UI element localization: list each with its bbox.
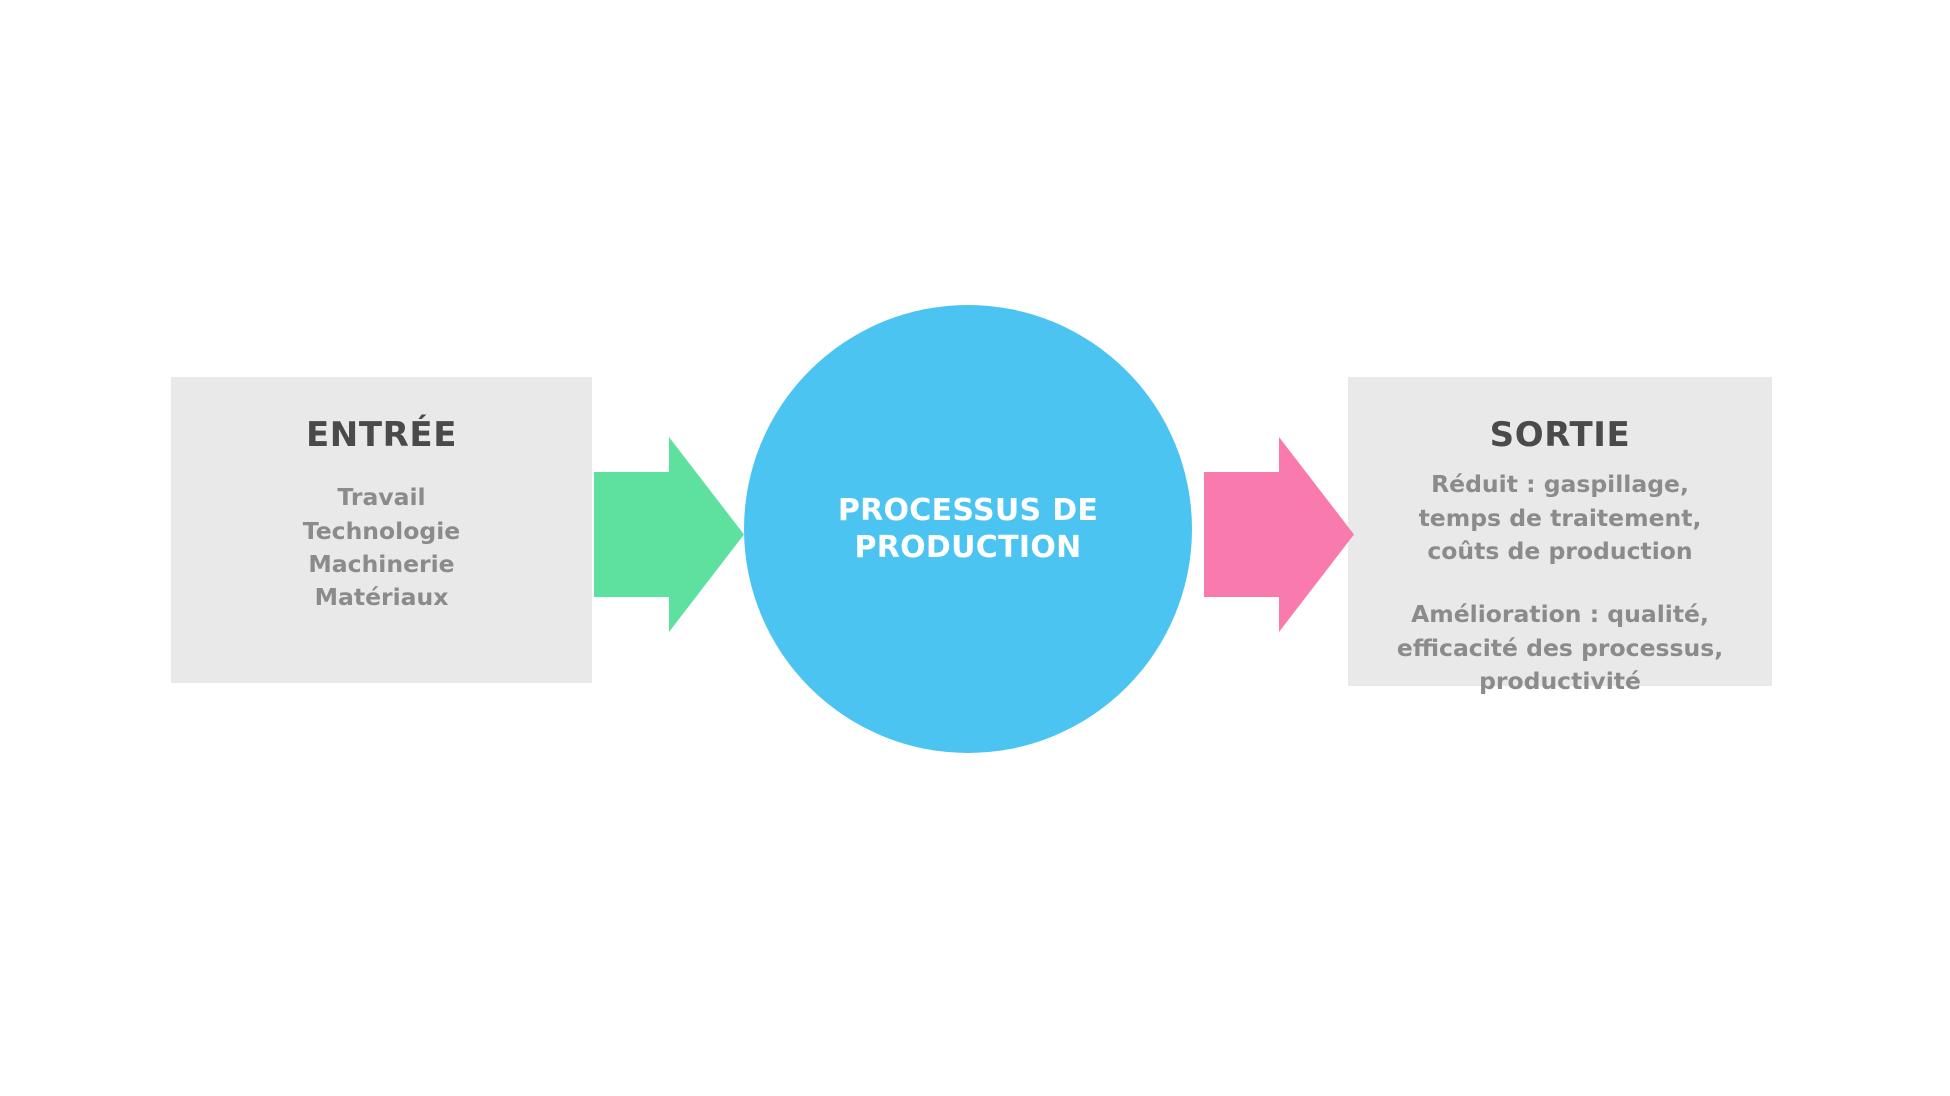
- output-panel-title: SORTIE: [1490, 417, 1631, 454]
- process-label-line-2: PRODUCTION: [838, 529, 1098, 567]
- output-reduced-line-1: Réduit : gaspillage,: [1419, 468, 1702, 501]
- output-improved-line-3: productivité: [1397, 665, 1723, 698]
- process-label: PROCESSUS DE PRODUCTION: [838, 492, 1098, 567]
- input-item-travail: Travail: [303, 481, 460, 514]
- output-reduced-group: Réduit : gaspillage, temps de traitement…: [1419, 468, 1702, 568]
- input-item-machinerie: Machinerie: [303, 548, 460, 581]
- output-reduced-line-2: temps de traitement,: [1419, 502, 1702, 535]
- input-item-technologie: Technologie: [303, 515, 460, 548]
- production-process-node: PROCESSUS DE PRODUCTION: [744, 305, 1192, 753]
- process-label-line-1: PROCESSUS DE: [838, 492, 1098, 530]
- input-panel-items: Travail Technologie Machinerie Matériaux: [303, 481, 460, 614]
- input-item-materiaux: Matériaux: [303, 581, 460, 614]
- input-panel-title: ENTRÉE: [306, 417, 457, 454]
- right-arrow-icon: [594, 437, 744, 632]
- diagram-canvas: ENTRÉE Travail Technologie Machinerie Ma…: [0, 0, 1950, 1096]
- input-to-process-arrow: [594, 437, 744, 632]
- process-to-output-arrow: [1204, 437, 1354, 632]
- output-improved-line-1: Amélioration : qualité,: [1397, 598, 1723, 631]
- output-improved-group: Amélioration : qualité, efficacité des p…: [1397, 598, 1723, 698]
- output-improved-line-2: efficacité des processus,: [1397, 632, 1723, 665]
- output-reduced-line-3: coûts de production: [1419, 535, 1702, 568]
- input-panel: ENTRÉE Travail Technologie Machinerie Ma…: [171, 377, 592, 683]
- output-panel: SORTIE Réduit : gaspillage, temps de tra…: [1348, 377, 1772, 686]
- right-arrow-icon: [1204, 437, 1354, 632]
